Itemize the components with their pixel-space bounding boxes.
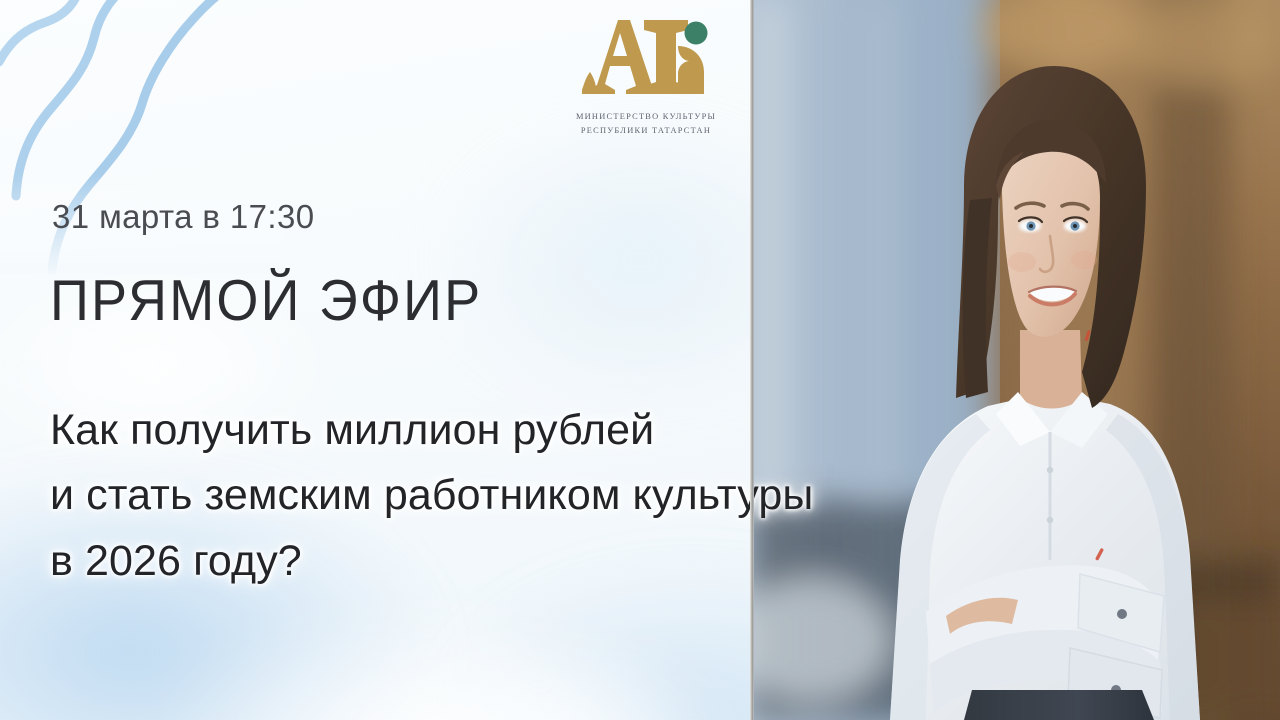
green-dot-icon (685, 22, 708, 45)
logo-title-line-1: МИНИСТЕРСТВО КУЛЬТУРЫ (558, 110, 734, 124)
ministry-logo: МИНИСТЕРСТВО КУЛЬТУРЫ РЕСПУБЛИКИ ТАТАРСТ… (558, 16, 734, 138)
headline-line-3: в 2026 году? (50, 529, 1250, 594)
broadcast-datetime: 31 марта в 17:30 (52, 198, 315, 236)
photo-left-edge (750, 0, 754, 720)
background-blob-upper (430, 110, 752, 410)
background-highlight-two (330, 630, 750, 720)
content-panel: МИНИСТЕРСТВО КУЛЬТУРЫ РЕСПУБЛИКИ ТАТАРСТ… (0, 0, 752, 720)
live-broadcast-announcement-slide: МИНИСТЕРСТВО КУЛЬТУРЫ РЕСПУБЛИКИ ТАТАРСТ… (0, 0, 1280, 720)
logo-title: МИНИСТЕРСТВО КУЛЬТУРЫ РЕСПУБЛИКИ ТАТАРСТ… (558, 110, 734, 138)
background-highlight-one (150, 600, 710, 720)
headline-line-2: и стать земским работником культуры (50, 463, 1250, 528)
logo-title-line-2: РЕСПУБЛИКИ ТАТАРСТАН (558, 124, 734, 138)
speaker-photo-image (750, 0, 1280, 720)
headline-line-1: Как получить миллион рублей (50, 398, 1250, 463)
mk-monogram-icon (580, 16, 712, 100)
speaker-photo (750, 0, 1280, 720)
broadcast-headline: Как получить миллион рублей и стать земс… (50, 398, 1250, 594)
broadcast-kicker: ПРЯМОЙ ЭФИР (50, 268, 482, 334)
